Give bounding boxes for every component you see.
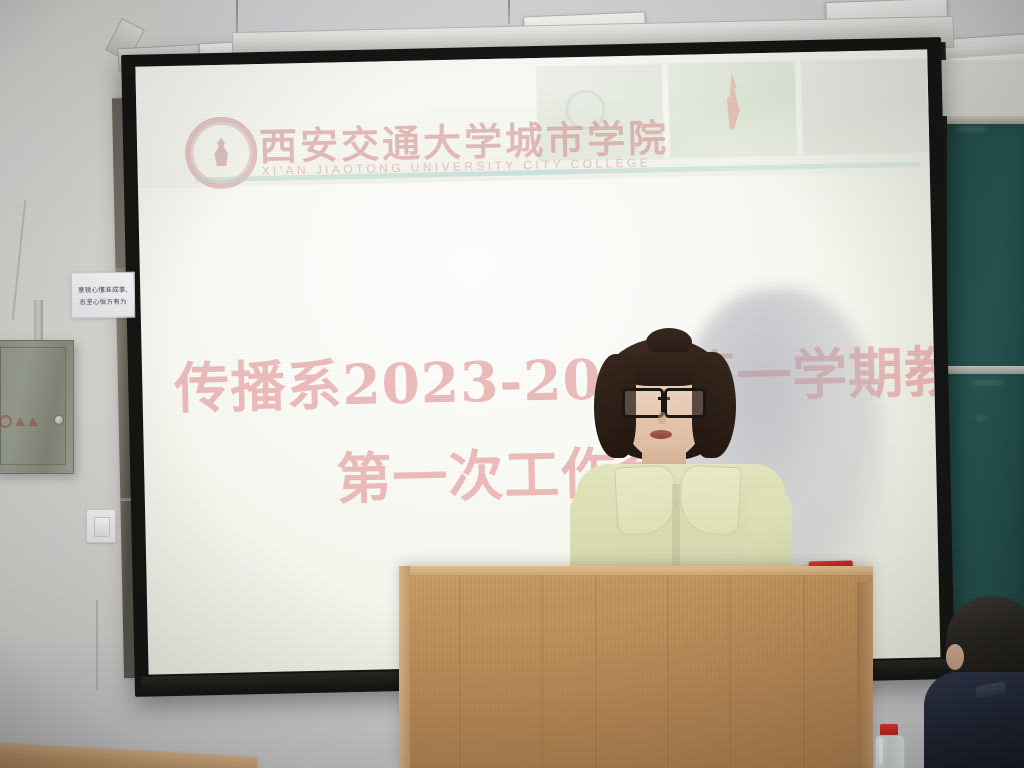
wall-crack	[96, 600, 98, 690]
attendee-jacket	[924, 672, 1024, 768]
chalk-smudge	[975, 416, 987, 420]
warning-triangle-icon	[15, 417, 25, 426]
motto-line-2: 志坚心恒方有为	[79, 296, 127, 306]
attendee-ear	[946, 644, 964, 670]
presenter-glasses-icon	[622, 388, 706, 412]
seated-attendee	[930, 596, 1024, 768]
chalk-smudge	[957, 126, 987, 132]
presenter-nose	[658, 412, 666, 424]
podium-wood-grain	[595, 575, 597, 768]
bottle-highlight	[879, 738, 883, 764]
light-suspension-rod	[508, 0, 510, 24]
water-bottle[interactable]	[874, 724, 904, 768]
podium-right-edge	[857, 582, 873, 768]
light-switch[interactable]	[86, 509, 116, 543]
chalk-rail	[947, 366, 1024, 374]
cabinet-lock-icon[interactable]	[54, 415, 64, 425]
blouse-button	[673, 530, 678, 535]
motto-line-1: 意锐心懂准成事,	[78, 284, 128, 295]
chalk-rail	[947, 116, 1024, 124]
podium-wood-grain	[459, 575, 461, 768]
presenter-at-podium	[574, 336, 788, 596]
presenter-mouth	[650, 430, 672, 439]
podium-wood-grain	[803, 575, 805, 768]
campus-photo-center-sculpture	[668, 60, 797, 159]
warning-triangle-icon	[28, 417, 38, 426]
glasses-lens-right	[664, 388, 706, 418]
blouse-button	[673, 502, 678, 507]
cabinet-door[interactable]	[0, 347, 66, 465]
classroom-photo: 西安交通大学城市学院 XI'AN JIAOTONG UNIVERSITY CIT…	[0, 0, 1024, 768]
light-switch-rocker[interactable]	[94, 517, 110, 537]
warning-circle-icon	[0, 415, 12, 428]
podium-wood-grain	[729, 575, 731, 768]
campus-photo-right	[800, 57, 929, 156]
blouse-button	[673, 558, 678, 563]
wall-motto-sign: 意锐心懂准成事, 志坚心恒方有为	[71, 272, 135, 319]
podium-left-edge	[399, 566, 410, 768]
podium-top-edge	[399, 566, 873, 575]
wooden-podium	[399, 566, 873, 768]
electrical-warning-label	[0, 415, 38, 428]
bottle-cap[interactable]	[880, 724, 898, 735]
podium-wood-grain	[541, 575, 543, 768]
wall-above-chalkboard	[938, 60, 1024, 118]
podium-wood-grain	[667, 575, 669, 768]
chalk-smudge	[969, 380, 1005, 385]
electrical-cabinet	[0, 340, 74, 474]
red-sculpture-icon	[722, 72, 743, 131]
